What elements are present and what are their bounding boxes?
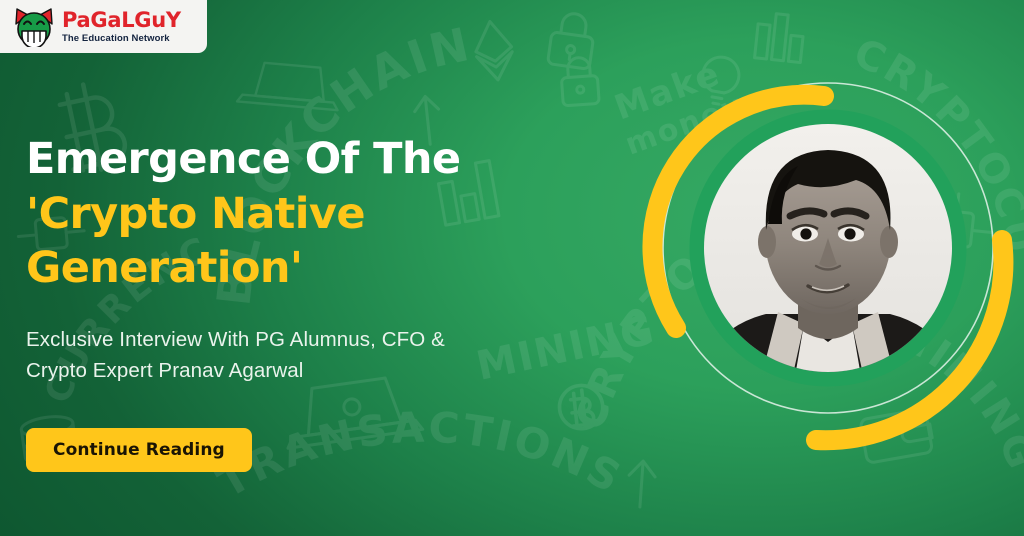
padlock-icon [547,11,596,69]
page-title: Emergence Of The 'Crypto Native Generati… [26,132,626,296]
subtitle-line-1: Exclusive Interview With PG Alumnus, CFO… [26,328,445,351]
subtitle-line-2: Crypto Expert Pranav Agarwal [26,359,303,382]
ethereum-icon [472,19,516,82]
banner-content: Emergence Of The 'Crypto Native Generati… [26,132,626,386]
continue-reading-button[interactable]: Continue Reading [26,428,252,472]
pagalguy-devil-face-icon [12,7,56,47]
bar-chart-icon [755,12,806,63]
brand-tagline: The Education Network [62,34,181,44]
padlock-icon [560,56,599,105]
promo-banner: BLOCKCHAIN CRYPTOCURRENCY CRYPTOCURRENCY… [0,0,1024,536]
watermark-word: TRANSACTIONS [209,403,631,508]
laptop-icon [237,61,341,110]
subtitle: Exclusive Interview With PG Alumnus, CFO… [26,324,526,386]
headline-line-2: 'Crypto Native Generation' [26,187,626,296]
portrait-composition [628,60,1024,480]
headline-line-1: Emergence Of The [26,132,626,187]
bitcoin-icon [557,383,604,430]
brand-name: PaGaLGuY [62,10,181,31]
brand-logo[interactable]: PaGaLGuY The Education Network [0,0,207,53]
